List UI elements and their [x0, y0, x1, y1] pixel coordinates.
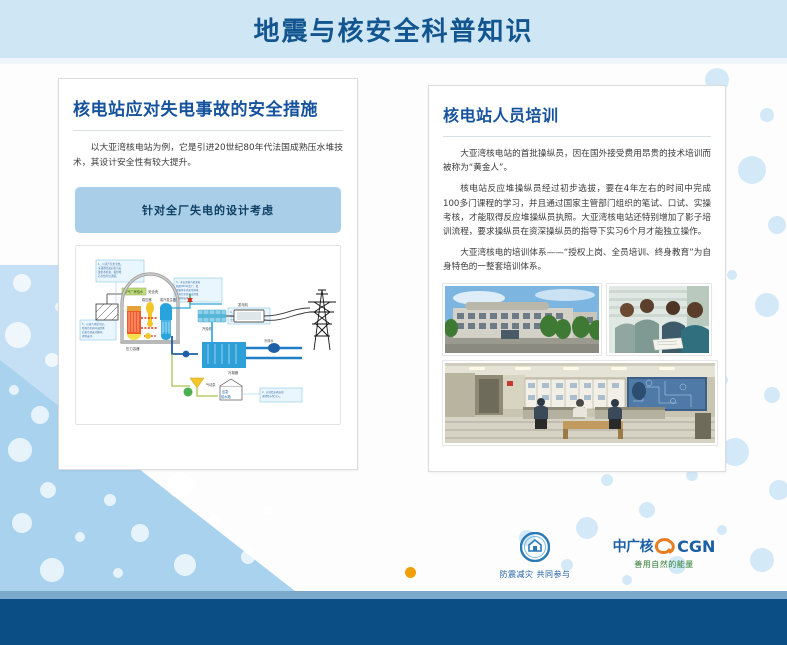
- plant-schematic-svg: 1、以蒸汽导出余热， 冷凝器出发后仍可后 备供水补充，提供堆 芯余热导出通道。 …: [76, 246, 341, 424]
- cgn-logo-block: 中广核 CGN 善用自然的能量: [598, 536, 730, 570]
- photo-gallery: [443, 284, 711, 445]
- right-section-title: 核电站人员培训: [443, 102, 711, 132]
- svg-text:安全壳: 安全壳: [148, 289, 159, 294]
- nuclear-plant-diagram: 1、以蒸汽导出余热， 冷凝器出发后仍可后 备供水补充，提供堆 芯余热导出通道。 …: [75, 245, 341, 425]
- footer-bar: [0, 599, 787, 645]
- earthquake-prevention-seal-block: 防震减灾 共同参与: [480, 532, 590, 580]
- left-section-title: 核电站应对失电事故的安全措施: [73, 95, 343, 126]
- svg-text:后堆芯余热导出并维: 后堆芯余热导出并维: [176, 292, 199, 296]
- photo-operators-discussion: [607, 284, 711, 355]
- footer-logos: 防震减灾 共同参与 中广核 CGN 善用自然的能量: [480, 532, 730, 587]
- svg-text:3、非安全级汽轮发电: 3、非安全级汽轮发电: [176, 280, 201, 284]
- svg-text:稳压器: 稳压器: [142, 297, 152, 302]
- svg-text:压力容器: 压力容器: [126, 346, 140, 351]
- svg-text:机组400千瓦厂，低: 机组400千瓦厂，低: [176, 284, 199, 288]
- design-consideration-button[interactable]: 针对全厂失电的设计考虑: [75, 187, 341, 233]
- svg-text:5、以蒸汽排放冷却，: 5、以蒸汽排放冷却，: [82, 322, 106, 326]
- svg-text:蒸汽发生器: 蒸汽发生器: [160, 297, 177, 302]
- svg-text:流经给水泵注入。: 流经给水泵注入。: [262, 394, 282, 398]
- svg-text:气动泵: 气动泵: [206, 382, 216, 387]
- right-paragraph-1: 大亚湾核电站的首批操纵员，因在国外接受费用昂贵的技术培训而被称为“黄金人”。: [443, 147, 711, 175]
- cgn-swirl-icon: [654, 537, 676, 555]
- left-paragraph: 以大亚湾核电站为例，它是引进20世纪80年代法国成熟压水堆技术，其设计安全性有较…: [73, 141, 343, 171]
- svg-text:冷却水: 冷却水: [264, 338, 274, 343]
- cta-label: 针对全厂失电的设计考虑: [142, 202, 274, 218]
- header-underline: [0, 58, 787, 64]
- svg-text:冷凝器出发后仍可后: 冷凝器出发后仍可后: [98, 266, 122, 270]
- cgn-tagline: 善用自然的能量: [598, 559, 730, 570]
- right-paragraph-2: 核电站反应堆操纵员经过初步选拔，要在4年左右的时间中完成100多门课程的学习，并…: [443, 182, 711, 239]
- left-title-divider: [73, 130, 343, 131]
- svg-text:冷凝器: 冷凝器: [228, 370, 239, 375]
- svg-text:提供支持。: 提供支持。: [82, 334, 95, 338]
- poster-stage: 地震与核安全科普知识 核电站应对失电事故的安全措施 以大亚湾核电站为例，它是引进…: [0, 0, 787, 645]
- cgn-wordmark: 中广核 CGN: [598, 536, 730, 556]
- right-paragraph-3: 大亚湾核电的培训体系——“授权上岗、全员培训、终身教育”为自身特色的一整套培训体…: [443, 246, 711, 274]
- svg-text:给水箱: 给水箱: [221, 394, 231, 399]
- cgn-chinese-name: 中广核: [613, 536, 654, 556]
- right-title-divider: [443, 136, 711, 137]
- svg-text:后备冷却支持循环。: 后备冷却支持循环。: [82, 330, 105, 334]
- footer-strip: [0, 591, 787, 599]
- svg-text:应急: 应急: [222, 389, 229, 394]
- accent-dot: [405, 567, 416, 578]
- photo-training-center-building: [443, 284, 601, 355]
- svg-text:压循环水系统可停堆: 压循环水系统可停堆: [176, 288, 199, 292]
- svg-text:给堆芯余热导出提供: 给堆芯余热导出提供: [82, 326, 105, 330]
- svg-text:芯余热导出通道。: 芯余热导出通道。: [98, 274, 119, 278]
- seal-tagline: 防震减灾 共同参与: [480, 569, 590, 580]
- cgn-english-name: CGN: [677, 537, 715, 556]
- left-content-card: 核电站应对失电事故的安全措施 以大亚湾核电站为例，它是引进20世纪80年代法国成…: [58, 78, 358, 470]
- earthquake-prevention-seal-icon: [520, 532, 550, 562]
- right-content-card: 核电站人员培训 大亚湾核电站的首批操纵员，因在国外接受费用昂贵的技术培训而被称为…: [428, 85, 726, 472]
- page-title: 地震与核安全科普知识: [253, 11, 533, 48]
- svg-text:汽轮机: 汽轮机: [202, 326, 213, 331]
- photo-control-room-simulator: [443, 361, 717, 445]
- svg-text:2、应急给水箱自动: 2、应急给水箱自动: [262, 390, 284, 394]
- svg-text:1、以蒸汽导出余热，: 1、以蒸汽导出余热，: [98, 262, 123, 266]
- page-header: 地震与核安全科普知识: [0, 0, 787, 58]
- svg-text:备供水补充，提供堆: 备供水补充，提供堆: [98, 270, 122, 274]
- svg-text:发电机: 发电机: [238, 302, 249, 307]
